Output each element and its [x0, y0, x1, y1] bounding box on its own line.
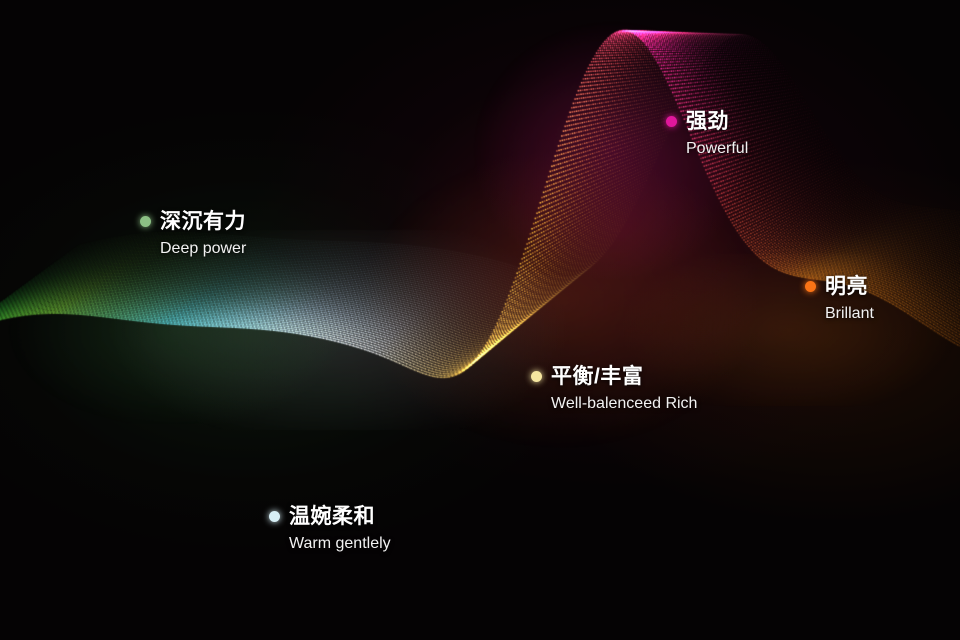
legend-dot-icon	[805, 281, 816, 292]
annotation-label-cn: 强劲	[686, 110, 729, 133]
annotation-row: 明亮	[805, 275, 874, 298]
annotation-label-cn: 深沉有力	[160, 210, 246, 233]
annotation-deep-power[interactable]: 深沉有力 Deep power	[140, 210, 246, 258]
annotation-label-en: Deep power	[160, 239, 246, 258]
annotation-label-en: Brillant	[825, 304, 874, 323]
annotation-warm-gentlely[interactable]: 温婉柔和 Warm gentlely	[269, 505, 391, 553]
annotation-label-en: Well-balenceed Rich	[551, 394, 697, 413]
annotation-label-cn: 明亮	[825, 275, 868, 298]
legend-dot-icon	[531, 371, 542, 382]
annotation-label-cn: 温婉柔和	[289, 505, 375, 528]
annotation-row: 平衡/丰富	[531, 365, 697, 388]
annotation-powerful[interactable]: 强劲 Powerful	[666, 110, 748, 158]
wave-visualization-stage: 深沉有力 Deep power 强劲 Powerful 明亮 Brillant …	[0, 0, 960, 640]
legend-dot-icon	[666, 116, 677, 127]
annotation-row: 温婉柔和	[269, 505, 391, 528]
annotation-label-cn: 平衡/丰富	[551, 365, 643, 388]
annotation-brillant[interactable]: 明亮 Brillant	[805, 275, 874, 323]
annotation-label-en: Powerful	[686, 139, 748, 158]
legend-dot-icon	[140, 216, 151, 227]
annotation-row: 深沉有力	[140, 210, 246, 233]
annotation-well-balanced-rich[interactable]: 平衡/丰富 Well-balenceed Rich	[531, 365, 697, 413]
annotation-label-en: Warm gentlely	[289, 534, 391, 553]
annotation-row: 强劲	[666, 110, 748, 133]
legend-dot-icon	[269, 511, 280, 522]
